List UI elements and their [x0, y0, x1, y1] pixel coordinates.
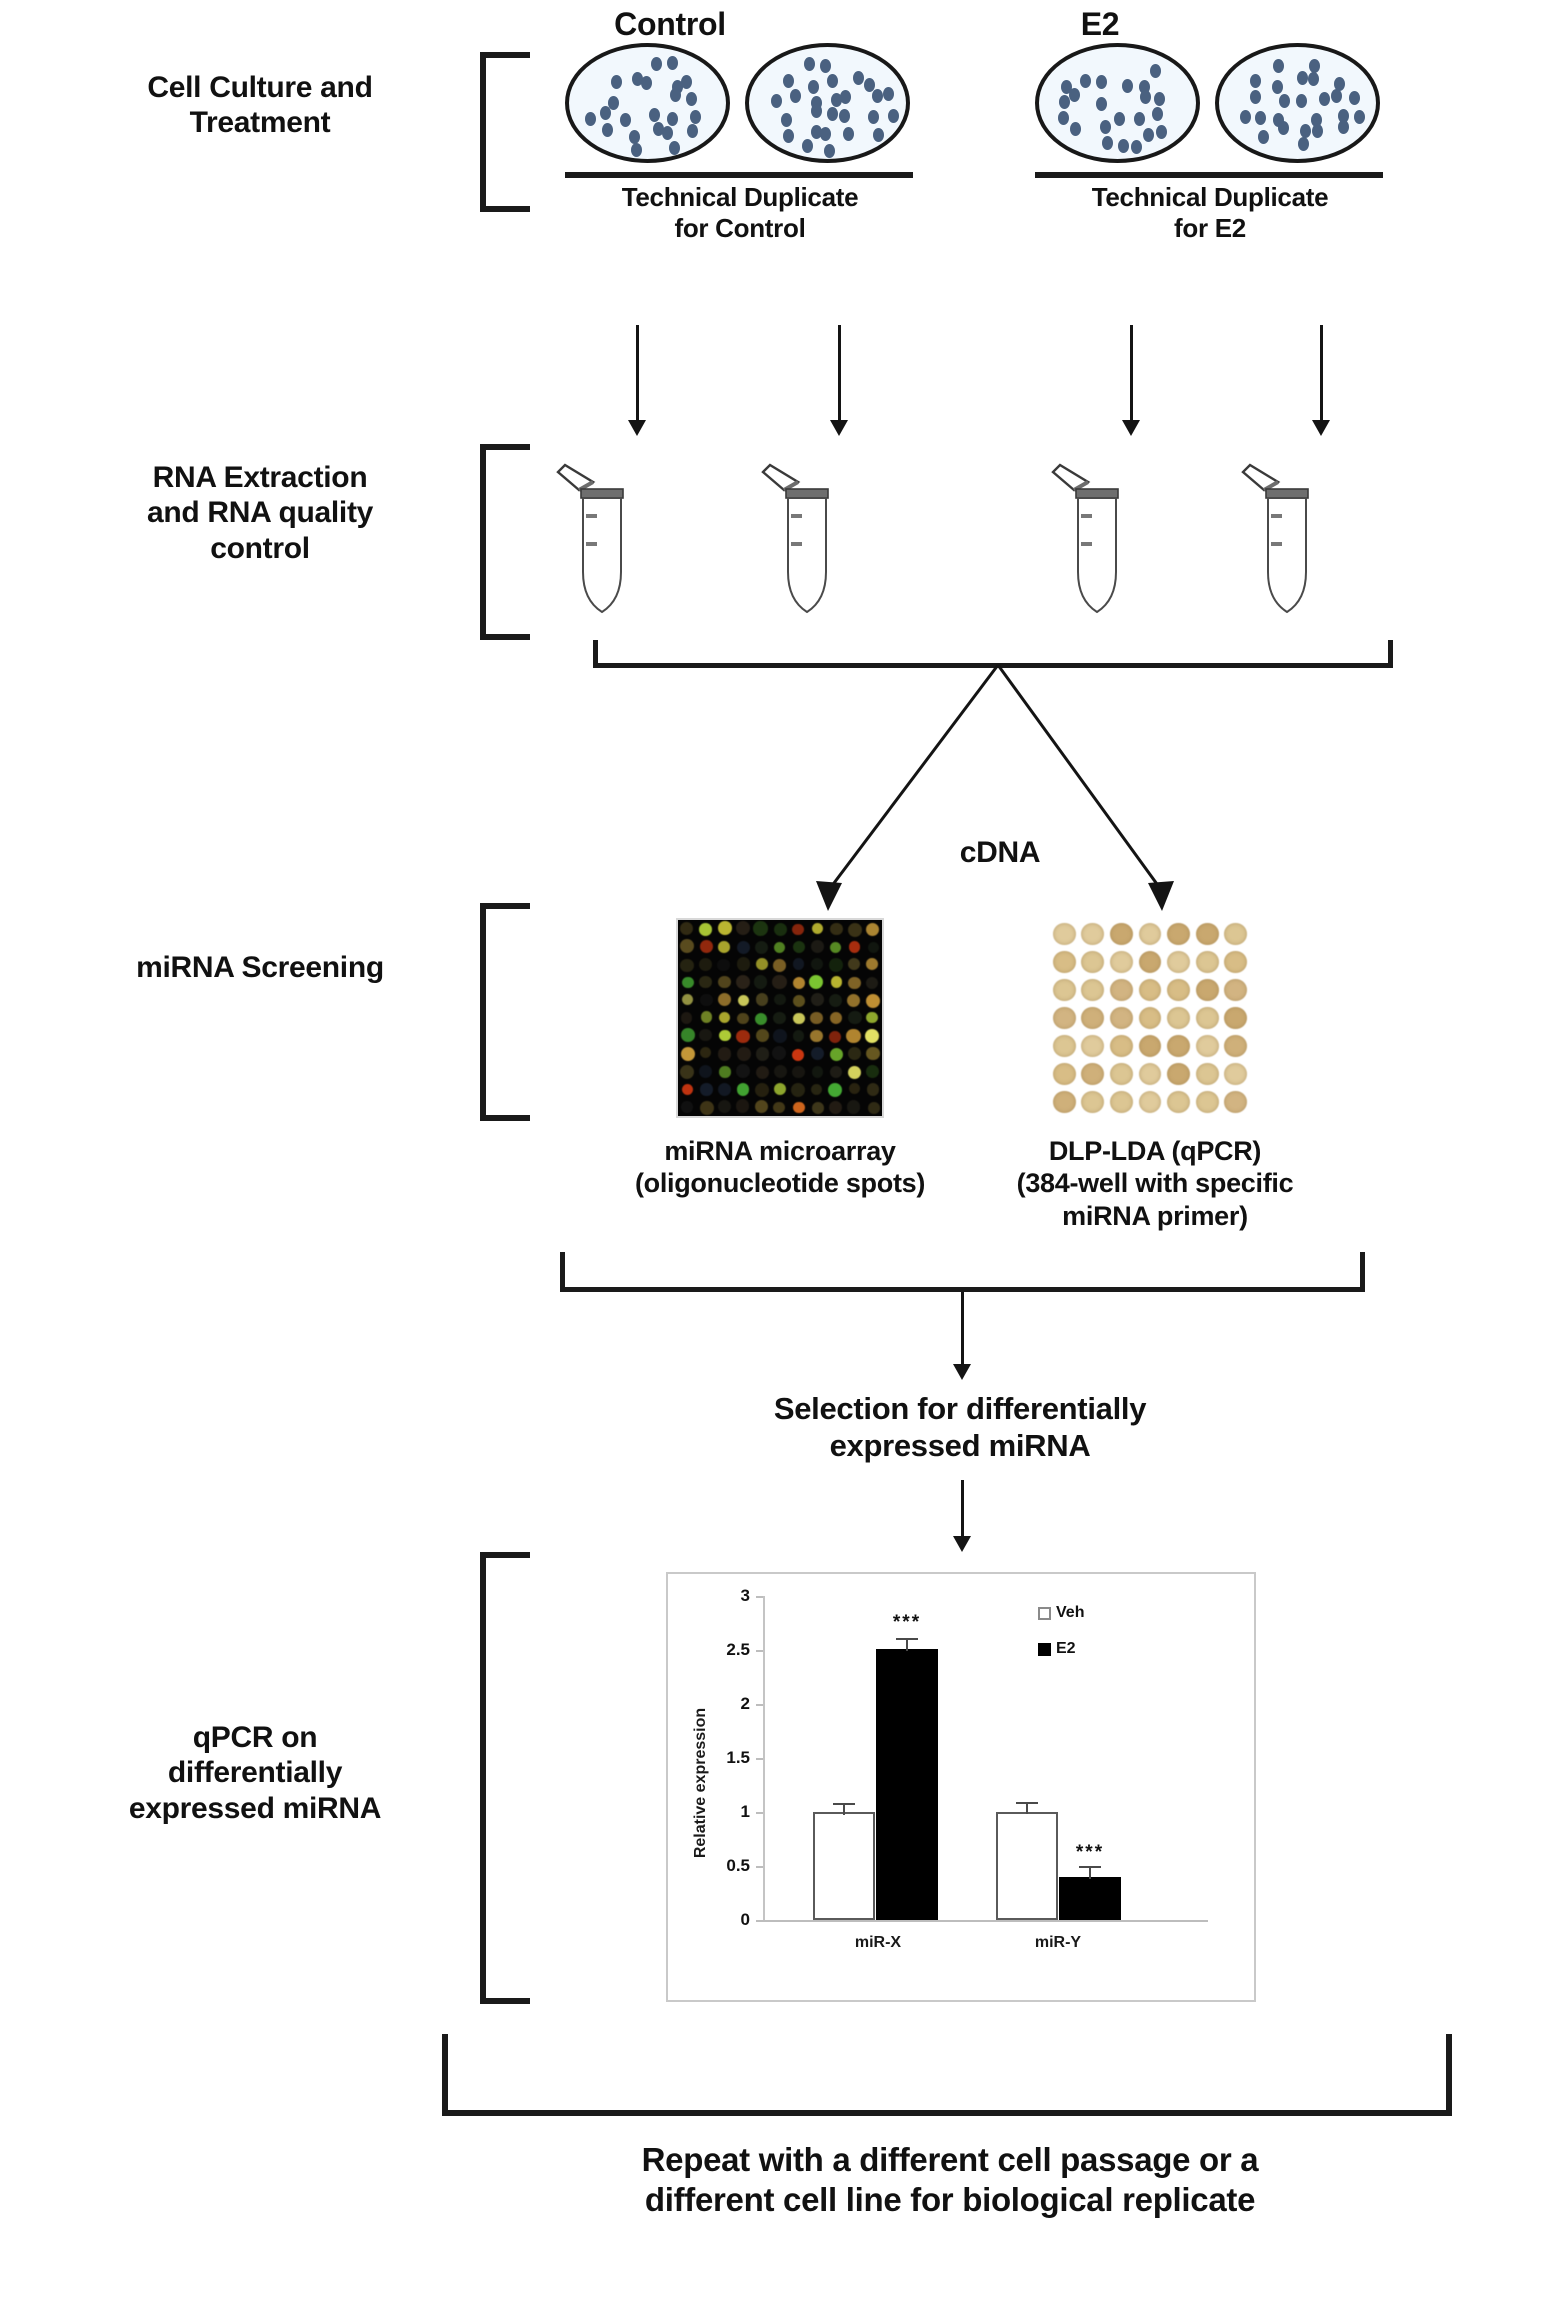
- workflow-diagram: Cell Culture andTreatment Control E2 Tec…: [0, 0, 1554, 2320]
- microarray-spot: [811, 993, 824, 1006]
- stage-label-rna-extraction: RNA Extractionand RNA qualitycontrol: [60, 460, 460, 566]
- microcentrifuge-tube-1: [545, 460, 695, 620]
- cell-dot: [1250, 74, 1261, 88]
- cell-dot: [600, 106, 611, 120]
- plate-well: [1053, 1063, 1076, 1086]
- cell-dot: [1338, 120, 1349, 134]
- chart-legend-item-e2: E2: [1038, 1640, 1076, 1658]
- plate-well: [1110, 923, 1133, 946]
- bar-mir-y-e2: [1059, 1877, 1121, 1920]
- cell-dot: [1279, 94, 1290, 108]
- plate-well: [1081, 951, 1104, 974]
- microarray-spot: [846, 1029, 860, 1043]
- cell-dot: [1240, 110, 1251, 124]
- cell-dot: [1300, 124, 1311, 138]
- microarray-spot: [793, 1102, 804, 1113]
- plate-well: [1196, 1007, 1219, 1030]
- microarray-spot: [829, 994, 843, 1008]
- cell-dot: [820, 127, 831, 141]
- microarray-spot: [680, 959, 693, 972]
- collection-bracket-screening: [560, 1252, 1365, 1292]
- petri-dish-control-1: [565, 43, 730, 163]
- microarray-spot: [700, 994, 712, 1006]
- microarray-spot: [866, 1012, 877, 1023]
- microarray-spot: [811, 1084, 822, 1095]
- microarray-spot: [793, 941, 805, 953]
- plate-well: [1139, 1091, 1162, 1114]
- microarray-spot: [829, 1101, 842, 1114]
- microarray-spot: [774, 942, 785, 953]
- microarray-spot: [810, 1030, 822, 1042]
- plate-well: [1224, 1063, 1247, 1086]
- microarray-spot: [736, 1099, 750, 1113]
- microarray-spot: [719, 1012, 730, 1023]
- microarray-spot: [755, 941, 768, 954]
- plate-well: [1224, 1035, 1247, 1058]
- cdna-label: cDNA: [905, 835, 1095, 871]
- chart-category-label-mir-y: miR-Y: [1006, 1934, 1110, 1952]
- arrow-to-qpcr-chart-head: [953, 1536, 971, 1552]
- microarray-spot: [699, 958, 712, 971]
- arrow-to-selection: [961, 1292, 964, 1370]
- cell-dot: [1131, 140, 1142, 154]
- arrow-to-tube-3: [1130, 325, 1133, 425]
- cell-dot: [1150, 64, 1161, 78]
- chart-y-axis: [763, 1596, 765, 1921]
- cell-dot: [1309, 59, 1320, 73]
- cell-dot: [1069, 88, 1080, 102]
- chart-tickmark-2-5: [756, 1650, 763, 1652]
- errorbar-cap-mir-x-e2: [896, 1638, 918, 1640]
- chart-y-axis-label: Relative expression: [692, 1688, 710, 1878]
- plate-well: [1196, 951, 1219, 974]
- microarray-spot: [809, 975, 823, 989]
- plate-well: [1053, 979, 1076, 1002]
- cell-dot: [641, 76, 652, 90]
- microarray-spot: [680, 1065, 694, 1079]
- microarray-spot: [792, 924, 803, 935]
- microarray-spot: [866, 958, 878, 970]
- plate-well: [1110, 1063, 1133, 1086]
- cell-dot: [1298, 137, 1309, 151]
- chart-tickmark-0: [756, 1920, 763, 1922]
- errorbar-cap-mir-y-veh: [1016, 1802, 1038, 1804]
- microarray-spot: [848, 1066, 861, 1079]
- plate-well: [1081, 923, 1104, 946]
- plate-well: [1139, 979, 1162, 1002]
- microarray-spot: [793, 977, 806, 990]
- cell-dot: [771, 94, 782, 108]
- bracket-qpcr: [480, 1552, 530, 2004]
- cell-dot: [804, 57, 815, 71]
- microcentrifuge-tube-3: [1040, 460, 1190, 620]
- microarray-spot: [736, 1064, 750, 1078]
- microarray-spot: [774, 1083, 786, 1095]
- microarray-spot: [793, 1030, 805, 1042]
- plate-well: [1196, 979, 1219, 1002]
- plate-well: [1110, 1035, 1133, 1058]
- cell-dot: [667, 56, 678, 70]
- cell-dot: [585, 112, 596, 126]
- microarray-spot: [681, 1012, 692, 1023]
- legend-swatch-e2-icon: [1038, 1643, 1051, 1656]
- bracket-mirna-screening: [480, 903, 530, 1121]
- microarray-spot: [737, 1047, 751, 1061]
- plate-well: [1081, 1091, 1104, 1114]
- cell-dot: [883, 87, 894, 101]
- microarray-spot: [736, 921, 750, 935]
- microarray-spot: [866, 1065, 879, 1078]
- significance-stars-mir-x: ***: [876, 1612, 938, 1634]
- chart-ytick-1-5: 1.5: [688, 1748, 750, 1768]
- plate-well: [1139, 1035, 1162, 1058]
- cell-dot: [808, 80, 819, 94]
- cell-dot: [1331, 89, 1342, 103]
- cell-dot: [1250, 90, 1261, 104]
- treatment-label-e2: E2: [1000, 5, 1200, 43]
- cell-dot: [1152, 107, 1163, 121]
- group-bar-e2: [1035, 172, 1383, 178]
- microarray-spot: [718, 976, 731, 989]
- chart-tickmark-0-5: [756, 1866, 763, 1868]
- microarray-spot: [754, 975, 767, 988]
- arrow-to-tube-4: [1320, 325, 1323, 425]
- microarray-spot: [830, 1048, 844, 1062]
- cell-dot: [1297, 71, 1308, 85]
- microarray-spot: [756, 1066, 769, 1079]
- chart-legend-item-veh: Veh: [1038, 1604, 1084, 1622]
- cell-dot: [620, 113, 631, 127]
- microarray-spot: [811, 958, 823, 970]
- microarray-spot: [828, 1083, 842, 1097]
- cell-dot: [1312, 124, 1323, 138]
- cell-dot: [631, 143, 642, 157]
- chart-category-label-mir-x: miR-X: [826, 1934, 930, 1952]
- microarray-spot: [866, 923, 879, 936]
- microarray-spot: [793, 1013, 805, 1025]
- cell-dot: [1058, 111, 1069, 125]
- cell-dot: [686, 92, 697, 106]
- cell-dot: [1272, 80, 1283, 94]
- microarray-spot: [699, 976, 711, 988]
- microarray-spot: [774, 923, 787, 936]
- cell-dot: [1255, 111, 1266, 125]
- microarray-spot: [700, 1083, 712, 1095]
- cell-dot: [1080, 74, 1091, 88]
- cell-dot: [1349, 91, 1360, 105]
- plate-well: [1053, 923, 1076, 946]
- petri-dish-e2-2: [1215, 43, 1380, 163]
- cell-dot: [783, 129, 794, 143]
- plate-well: [1196, 1035, 1219, 1058]
- chart-ytick-0: 0: [688, 1910, 750, 1930]
- cell-dot: [690, 110, 701, 124]
- arrow-to-tube-3-head: [1122, 420, 1140, 436]
- significance-stars-mir-y: ***: [1059, 1842, 1121, 1864]
- microarray-spot: [755, 1083, 769, 1097]
- microcentrifuge-tube-2: [750, 460, 900, 620]
- plate-well: [1224, 979, 1247, 1002]
- plate-well: [1081, 1063, 1104, 1086]
- plate-well: [1110, 979, 1133, 1002]
- chart-ytick-1: 1: [688, 1802, 750, 1822]
- plate-well: [1081, 1007, 1104, 1030]
- microarray-spot: [700, 940, 713, 953]
- microarray-spot: [700, 1101, 714, 1115]
- chart-ytick-3: 3: [688, 1586, 750, 1606]
- treatment-label-control: Control: [545, 5, 795, 43]
- petri-dish-control-2: [745, 43, 910, 163]
- microarray-spot: [812, 1102, 824, 1114]
- microarray-spot: [811, 940, 824, 953]
- microarray-spot: [811, 1047, 824, 1060]
- microarray-spot: [792, 1049, 804, 1061]
- lda-caption: DLP-LDA (qPCR)(384-well with specificmiR…: [975, 1135, 1335, 1232]
- microarray-spot: [830, 1012, 842, 1024]
- plate-well: [1167, 1091, 1190, 1114]
- chart-ytick-0-5: 0.5: [688, 1856, 750, 1876]
- cell-dot: [1100, 120, 1111, 134]
- cell-dot: [790, 89, 801, 103]
- errorbar-cap-mir-y-e2: [1079, 1866, 1101, 1868]
- microarray-spot: [717, 959, 729, 971]
- plate-well: [1224, 951, 1247, 974]
- cell-dot: [649, 108, 660, 122]
- plate-well: [1139, 1007, 1162, 1030]
- cell-dot: [868, 110, 879, 124]
- microarray-spot: [755, 1100, 768, 1113]
- microarray-spot: [848, 1011, 862, 1025]
- petri-dish-e2-1: [1035, 43, 1200, 163]
- arrow-to-tube-1-head: [628, 420, 646, 436]
- repeat-text: Repeat with a different cell passage or …: [400, 2140, 1500, 2219]
- chart-x-axis: [763, 1920, 1208, 1922]
- cell-dot: [651, 57, 662, 71]
- qpcr-bar-chart: Relative expression 3 2.5 2 1.5 1 0.5 0 …: [666, 1572, 1256, 2002]
- microarray-spot: [866, 994, 880, 1008]
- microarray-spot: [753, 921, 767, 935]
- microarray-spot: [812, 923, 823, 934]
- cell-dot: [781, 113, 792, 127]
- microarray-spot: [719, 1066, 730, 1077]
- microarray-spot: [756, 993, 769, 1006]
- legend-label-e2: E2: [1056, 1640, 1076, 1658]
- arrow-to-tube-4-head: [1312, 420, 1330, 436]
- cell-dot: [827, 107, 838, 121]
- cell-dot: [820, 59, 831, 73]
- microarray-spot: [848, 958, 860, 970]
- plate-well: [1139, 1063, 1162, 1086]
- cell-dot: [1070, 122, 1081, 136]
- microarray-spot: [699, 923, 711, 935]
- microarray-spot: [682, 1084, 693, 1095]
- microarray-spot: [699, 1065, 712, 1078]
- legend-swatch-veh-icon: [1038, 1607, 1051, 1620]
- cell-dot: [1296, 94, 1307, 108]
- microarray-spot: [681, 1101, 692, 1112]
- microarray-spot: [868, 1102, 880, 1114]
- cell-dot: [853, 71, 864, 85]
- cell-dot: [662, 126, 673, 140]
- bar-mir-x-e2: [876, 1649, 938, 1920]
- arrow-to-selection-head: [953, 1364, 971, 1380]
- 384-well-plate-icon: [1050, 920, 1250, 1116]
- microarray-spot: [772, 975, 786, 989]
- plate-well: [1167, 979, 1190, 1002]
- plate-well: [1110, 951, 1133, 974]
- plate-well: [1167, 923, 1190, 946]
- microcentrifuge-tube-4: [1230, 460, 1380, 620]
- microarray-spot: [865, 1029, 879, 1043]
- cell-dot: [783, 74, 794, 88]
- microarray-spot: [701, 1011, 712, 1022]
- plate-well: [1224, 1091, 1247, 1114]
- microarray-spot: [737, 941, 750, 954]
- cell-dot: [1140, 90, 1151, 104]
- plate-well: [1081, 1035, 1104, 1058]
- microarray-spot: [700, 1047, 711, 1058]
- selection-text: Selection for differentiallyexpressed mi…: [620, 1390, 1300, 1464]
- microarray-spot: [755, 1013, 767, 1025]
- cell-dot: [840, 90, 851, 104]
- microarray-spot: [793, 958, 804, 969]
- cell-dot: [843, 127, 854, 141]
- microarray-spot: [773, 959, 786, 972]
- plate-well: [1224, 1007, 1247, 1030]
- cell-dot: [888, 109, 899, 123]
- microarray-spot: [830, 942, 841, 953]
- stage-label-cell-culture: Cell Culture andTreatment: [60, 70, 460, 141]
- microarray-spot: [681, 1047, 695, 1061]
- plate-well: [1053, 1035, 1076, 1058]
- microarray-spot: [772, 1046, 786, 1060]
- microarray-spot: [866, 977, 878, 989]
- microarray-spot: [737, 957, 750, 970]
- microarray-spot: [848, 977, 861, 990]
- microarray-spot: [681, 1028, 695, 1042]
- microarray-spot: [829, 958, 843, 972]
- microarray-spot: [718, 941, 730, 953]
- microarray-spot: [831, 976, 843, 988]
- microarray-spot: [737, 1083, 750, 1096]
- cell-dot: [1118, 139, 1129, 153]
- cell-dot: [802, 139, 813, 153]
- microarray-spot: [829, 1031, 841, 1043]
- microarray-spot: [680, 922, 693, 935]
- duplicate-caption-e2: Technical Duplicatefor E2: [1020, 182, 1400, 244]
- microarray-spot: [718, 1083, 731, 1096]
- cell-dot: [839, 109, 850, 123]
- chart-ytick-2: 2: [688, 1694, 750, 1714]
- microarray-spot: [774, 1065, 787, 1078]
- plate-well: [1196, 923, 1219, 946]
- microarray-spot: [773, 1102, 785, 1114]
- microarray-spot: [682, 994, 693, 1005]
- plate-well: [1053, 1007, 1076, 1030]
- microarray-spot: [791, 1083, 805, 1097]
- microarray-spot: [774, 994, 785, 1005]
- plate-well: [1196, 1063, 1219, 1086]
- microarray-spot: [680, 939, 694, 953]
- cell-dot: [670, 88, 681, 102]
- microarray-spot: [849, 1083, 860, 1094]
- microarray-spot: [719, 1030, 731, 1042]
- cell-dot: [1114, 112, 1125, 126]
- microarray-spot: [810, 1012, 822, 1024]
- microarray-spot: [847, 1100, 860, 1113]
- microarray-spot: [793, 995, 805, 1007]
- cell-dot: [687, 124, 698, 138]
- microarray-spot: [736, 1030, 750, 1044]
- cell-dot: [1156, 125, 1167, 139]
- microarray-spot: [848, 923, 862, 937]
- microarray-spot: [866, 1047, 880, 1061]
- microarray-spot: [773, 1012, 786, 1025]
- microarray-spot: [848, 1047, 861, 1060]
- arrow-to-tube-2: [838, 325, 841, 425]
- microarray-spot: [756, 1029, 769, 1042]
- bar-mir-x-veh: [813, 1812, 875, 1920]
- cell-dot: [824, 144, 835, 158]
- microarray-spot: [847, 994, 860, 1007]
- cell-dot: [1278, 121, 1289, 135]
- cell-dot: [1273, 59, 1284, 73]
- microarray-spot: [718, 1047, 731, 1060]
- bracket-cell-culture: [480, 52, 530, 212]
- cell-dot: [1258, 130, 1269, 144]
- plate-well: [1196, 1091, 1219, 1114]
- plate-well: [1139, 951, 1162, 974]
- plate-well: [1224, 923, 1247, 946]
- errorbar-cap-mir-x-veh: [833, 1803, 855, 1805]
- chart-tickmark-1-5: [756, 1758, 763, 1760]
- microarray-spot: [718, 993, 731, 1006]
- bracket-biological-replicate: [442, 2034, 1452, 2116]
- plate-well: [1110, 1091, 1133, 1114]
- bar-mir-y-veh: [996, 1812, 1058, 1920]
- stage-label-qpcr: qPCR ondifferentiallyexpressed miRNA: [45, 1720, 465, 1826]
- microarray-spot: [736, 975, 750, 989]
- plate-well: [1081, 979, 1104, 1002]
- microarray-spot: [830, 923, 843, 936]
- plate-well: [1167, 951, 1190, 974]
- group-bar-control: [565, 172, 913, 178]
- bracket-rna-extraction: [480, 444, 530, 640]
- cell-dot: [827, 74, 838, 88]
- plate-well: [1053, 1091, 1076, 1114]
- cell-dot: [1319, 92, 1330, 106]
- chart-ytick-2-5: 2.5: [688, 1640, 750, 1660]
- stage-label-mirna-screening: miRNA Screening: [60, 950, 460, 985]
- microarray-spot: [738, 995, 749, 1006]
- cell-dot: [1143, 128, 1154, 142]
- chart-tickmark-1: [756, 1812, 763, 1814]
- arrow-to-qpcr-chart: [961, 1480, 964, 1542]
- microarray-caption: miRNA microarray(oligonucleotide spots): [575, 1135, 985, 1200]
- cell-dot: [602, 123, 613, 137]
- cell-dot: [811, 104, 822, 118]
- microarray-spot: [756, 1047, 770, 1061]
- plate-well: [1167, 1007, 1190, 1030]
- cell-dot: [1154, 92, 1165, 106]
- chart-tickmark-3: [756, 1596, 763, 1598]
- arrow-to-tube-1: [636, 325, 639, 425]
- microarray-spot: [737, 1013, 748, 1024]
- arrow-to-tube-2-head: [830, 420, 848, 436]
- plate-well: [1053, 951, 1076, 974]
- cell-dot: [1122, 79, 1133, 93]
- microarray-chip-icon: [676, 918, 884, 1118]
